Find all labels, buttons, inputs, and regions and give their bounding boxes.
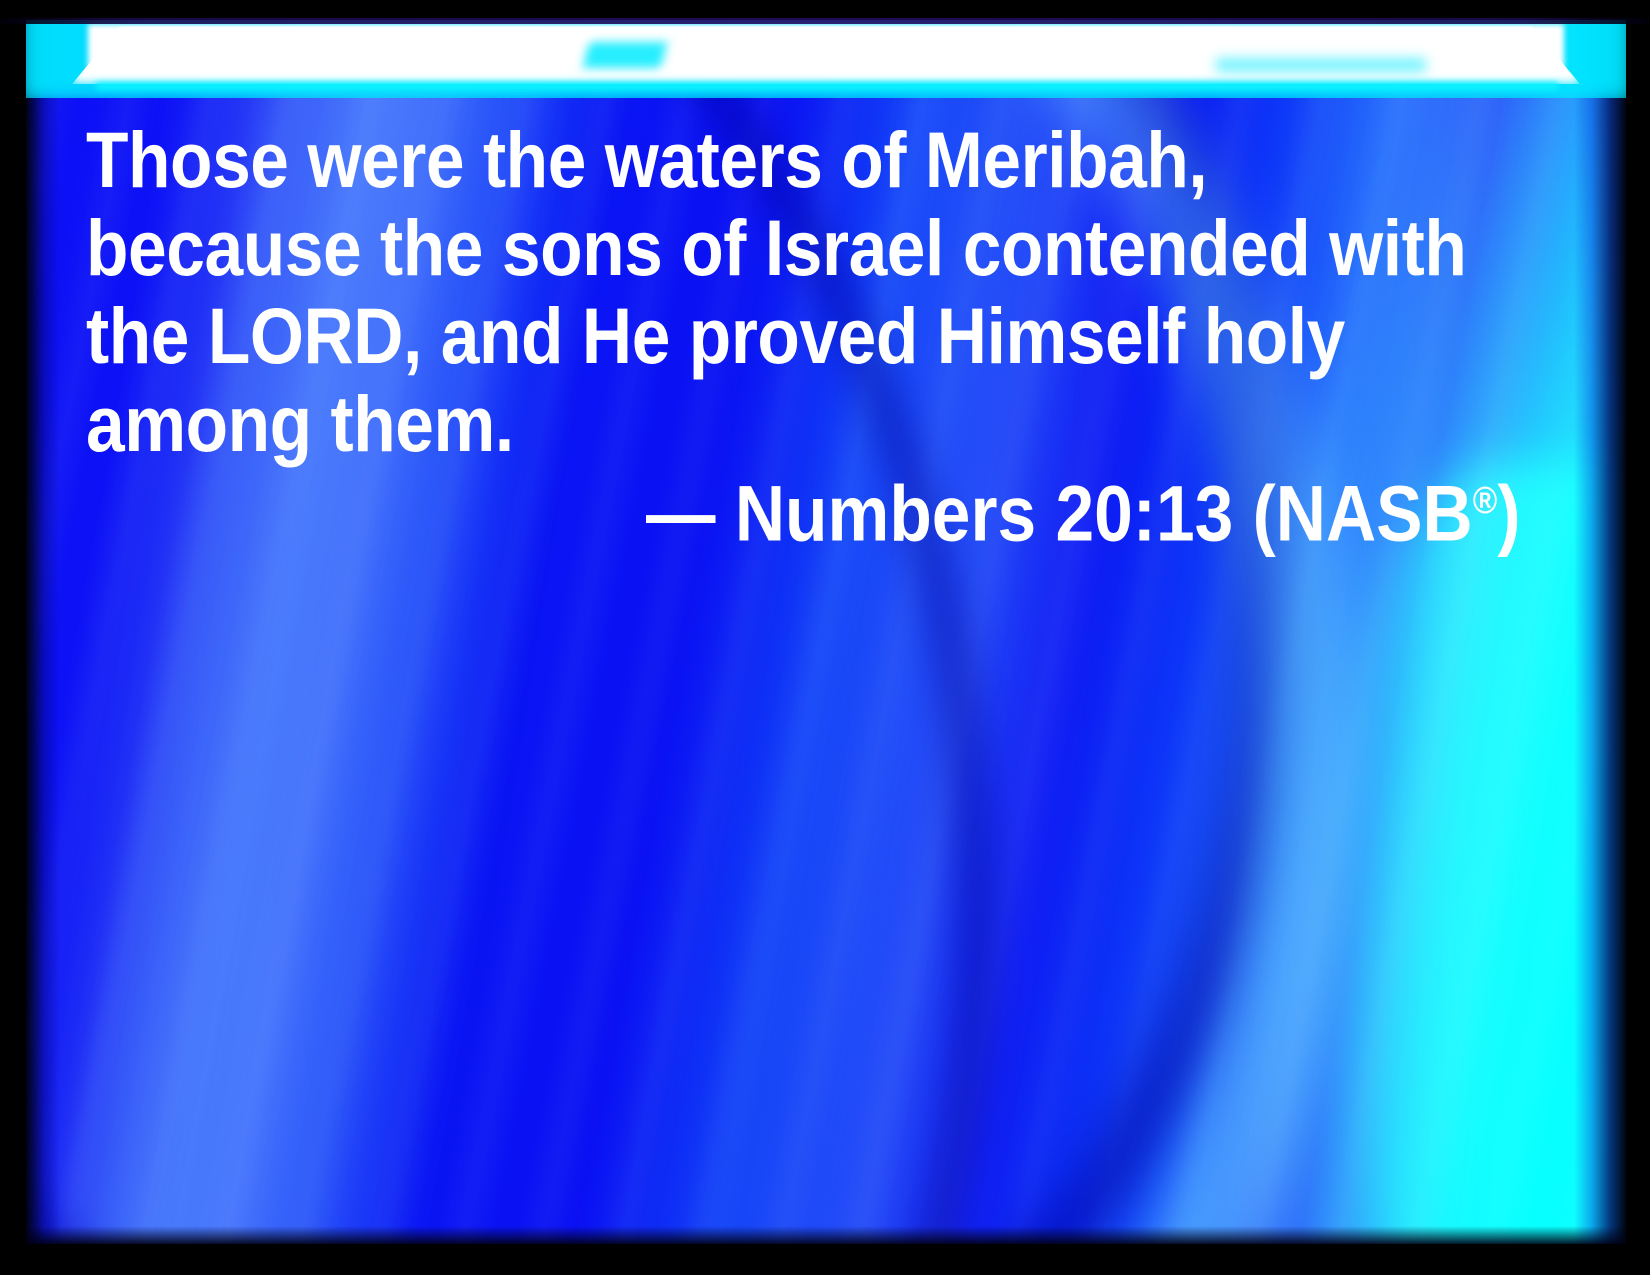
background-bottom-edge-shade <box>26 1226 1626 1244</box>
verse-line-4: among them. <box>86 380 1336 468</box>
verse-line-3: the LORD, and He proved Himself holy <box>86 292 1336 380</box>
verse-text-block: Those were the waters of Meribah, becaus… <box>86 116 1506 468</box>
attribution-prefix: — Numbers 20:13 (NASB <box>646 468 1473 557</box>
verse-attribution: — Numbers 20:13 (NASB®) <box>646 457 1520 557</box>
attribution-suffix: ) <box>1497 468 1520 557</box>
header-band-cyan-notch-right <box>1216 58 1426 72</box>
header-band-cyan-underline <box>96 82 1558 90</box>
verse-slide: Those were the waters of Meribah, becaus… <box>0 0 1650 1275</box>
background-left-edge-shade <box>26 22 60 1244</box>
verse-line-2: because the sons of Israel contended wit… <box>86 204 1336 292</box>
verse-line-1: Those were the waters of Meribah, <box>86 116 1336 204</box>
background-right-edge-shade <box>1574 22 1626 1244</box>
registered-trademark-icon: ® <box>1473 480 1498 522</box>
header-band-cyan-notch-left <box>583 42 667 68</box>
header-glow-band <box>26 20 1626 98</box>
header-top-dark-rule <box>0 18 1650 24</box>
